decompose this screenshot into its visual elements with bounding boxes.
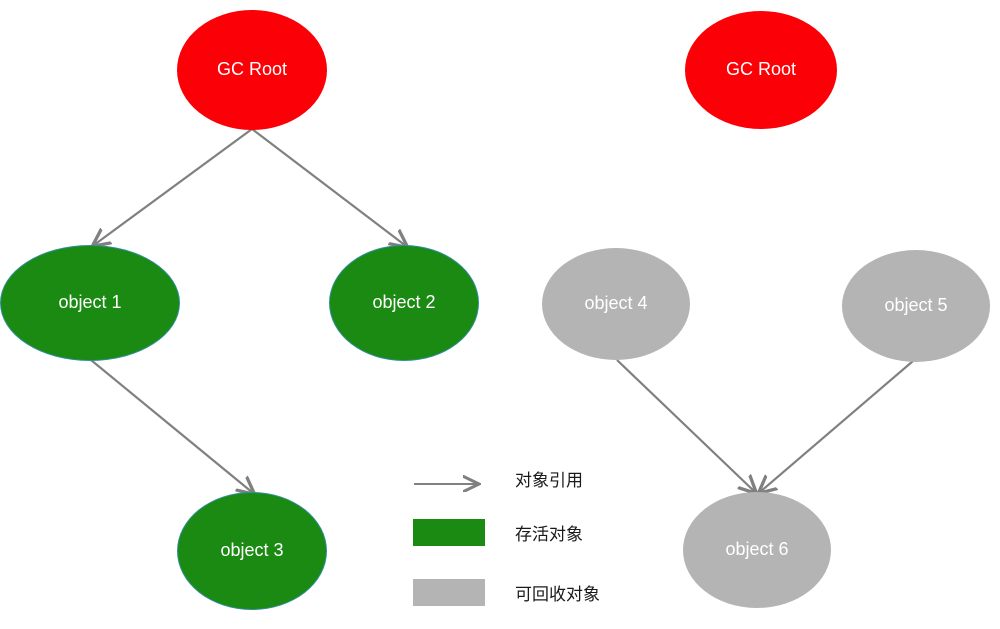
- legend: 对象引用 存活对象 可回收对象: [413, 462, 663, 612]
- arrow-icon: [413, 465, 485, 492]
- legend-item-recyclable-object: 可回收对象: [413, 576, 663, 608]
- legend-item-object-reference: 对象引用: [413, 462, 663, 494]
- edge-obj5-to-obj6: [760, 361, 913, 492]
- node-label: object 6: [719, 540, 794, 560]
- node-obj4: object 4: [542, 248, 690, 360]
- node-label: object 3: [214, 541, 289, 561]
- node-obj5: object 5: [842, 250, 990, 362]
- recyclable-object-swatch: [413, 579, 485, 606]
- legend-label-object-reference: 对象引用: [515, 466, 583, 491]
- node-obj2: object 2: [329, 245, 479, 361]
- node-label: object 1: [52, 293, 127, 313]
- edge-obj1-to-obj3: [91, 360, 253, 493]
- node-root1: GC Root: [177, 10, 327, 130]
- node-label: object 4: [578, 294, 653, 314]
- legend-label-live-object: 存活对象: [515, 520, 583, 545]
- node-label: GC Root: [211, 60, 293, 80]
- legend-label-recyclable-object: 可回收对象: [515, 580, 600, 605]
- diagram-canvas: GC RootGC Rootobject 1object 2object 3ob…: [0, 0, 1000, 629]
- node-root2: GC Root: [685, 11, 837, 129]
- edge-root1-to-obj2: [252, 129, 406, 246]
- node-obj3: object 3: [177, 492, 327, 610]
- edge-root1-to-obj1: [94, 129, 252, 245]
- node-obj1: object 1: [0, 245, 180, 361]
- node-obj6: object 6: [683, 492, 831, 608]
- node-label: object 2: [366, 293, 441, 313]
- node-label: object 5: [878, 296, 953, 316]
- node-label: GC Root: [720, 60, 802, 80]
- live-object-swatch: [413, 519, 485, 546]
- legend-item-live-object: 存活对象: [413, 516, 663, 548]
